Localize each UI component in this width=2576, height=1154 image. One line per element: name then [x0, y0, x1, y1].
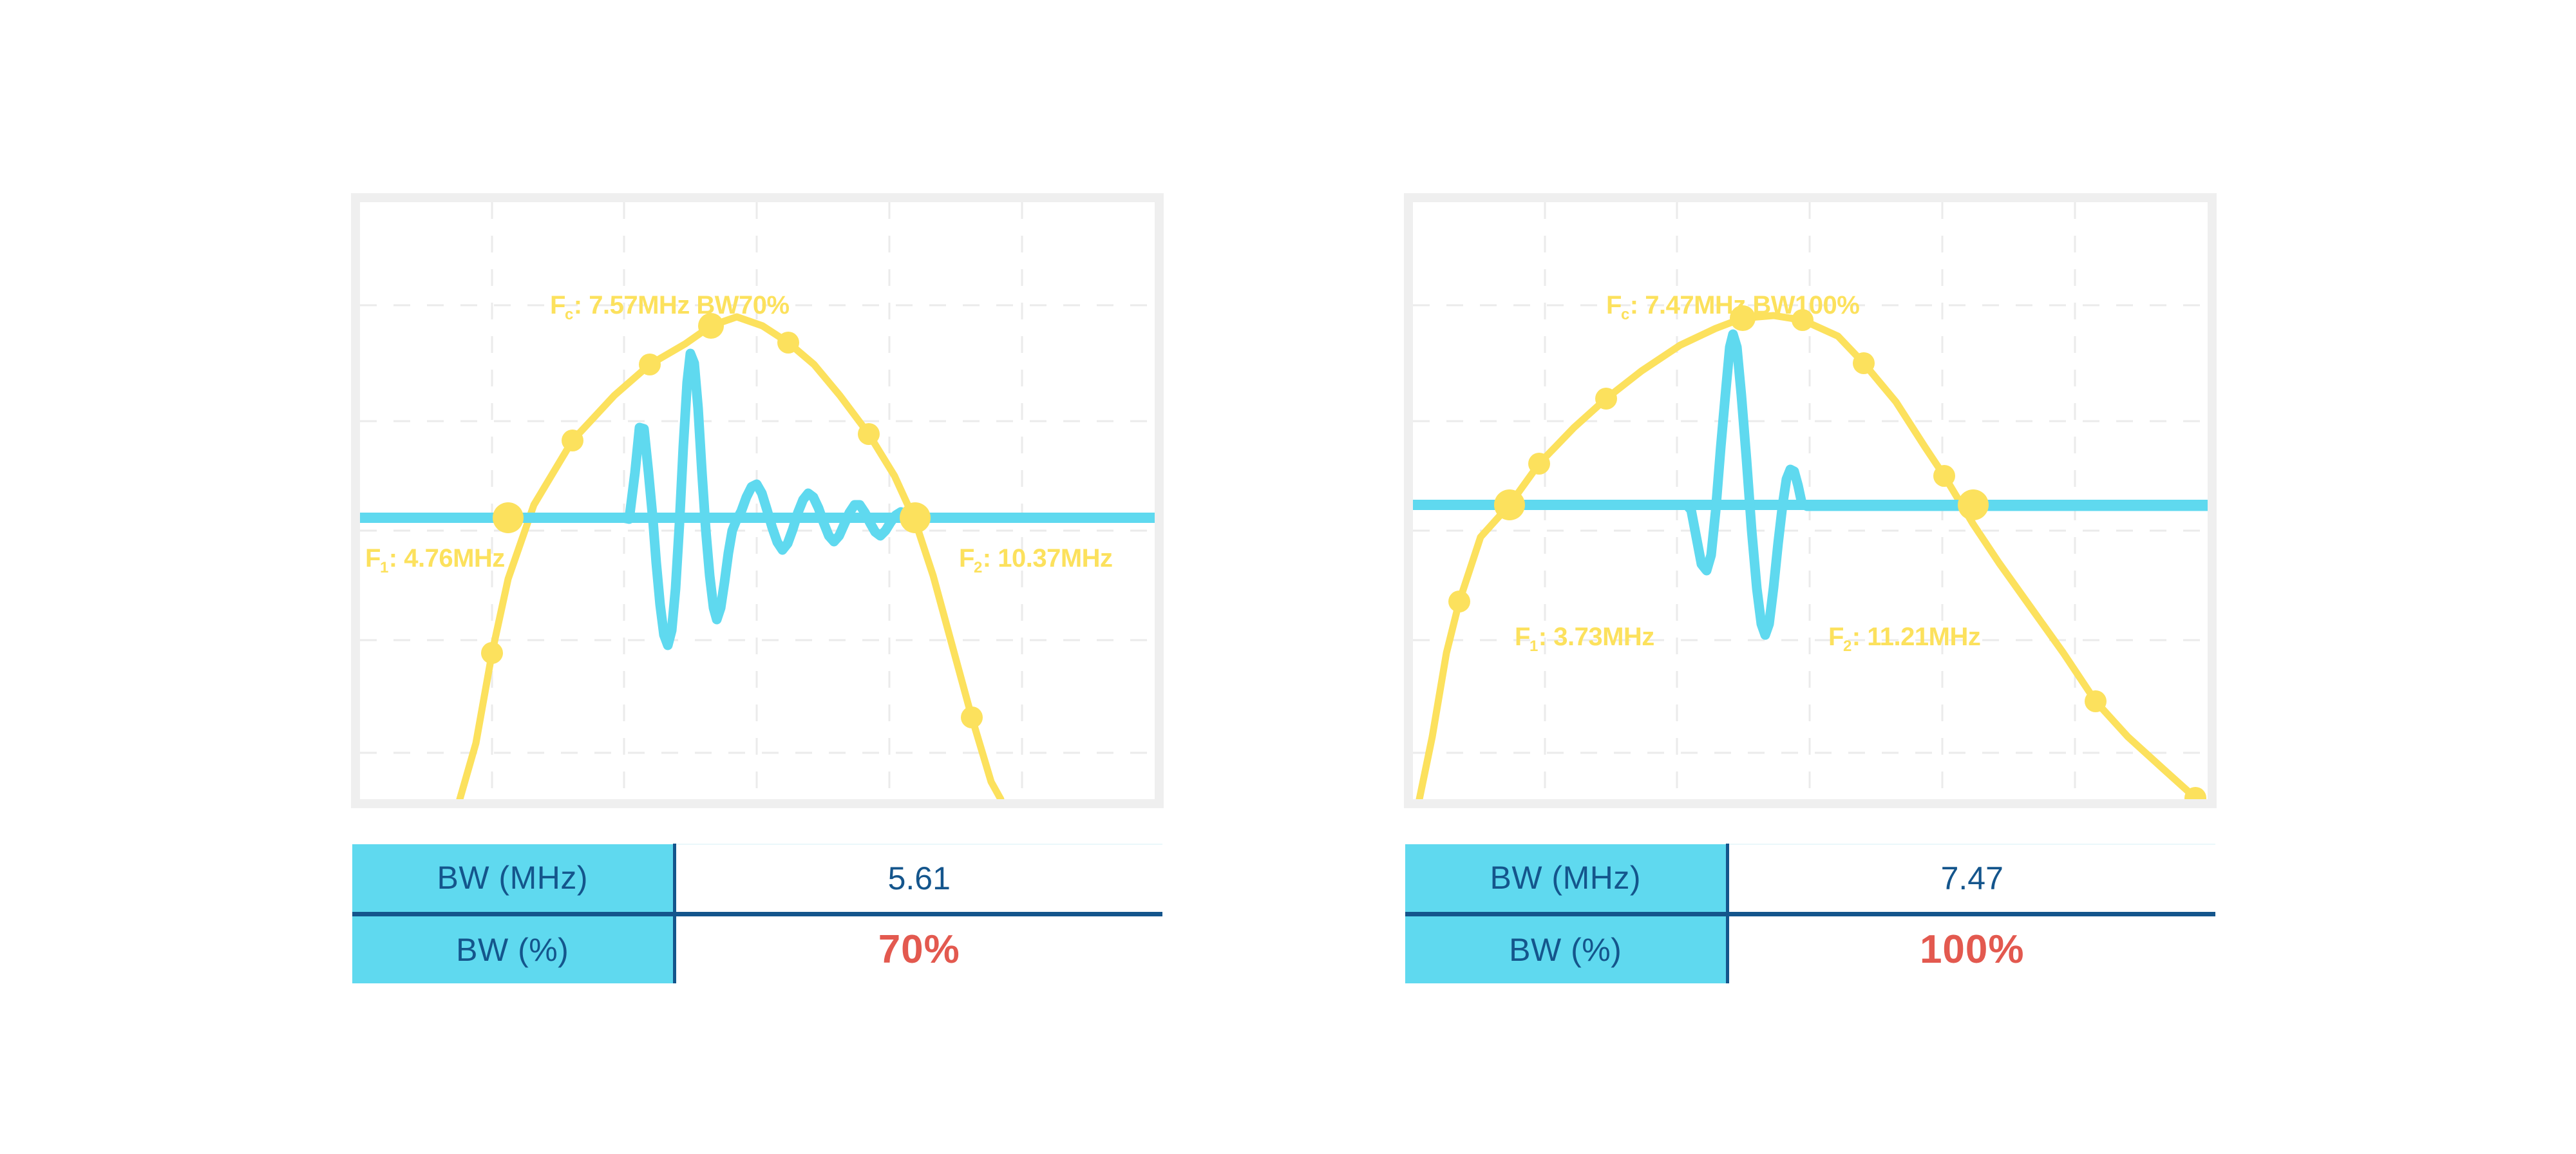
table-row: BW (MHz) 5.61 — [352, 844, 1162, 914]
bw-mhz-label: BW (MHz) — [352, 844, 674, 914]
chart-frame-left: Fc: 7.57MHz BW70% F1: 4.76MHz F2: 10.37M… — [351, 193, 1164, 808]
bw-pct-value: 100% — [1727, 914, 2215, 983]
bw-mhz-value: 7.47 — [1727, 844, 2215, 914]
bw-pct-label: BW (%) — [1405, 914, 1727, 983]
panel-right: Fc: 7.47MHz BW100% F1: 3.73MHz F2: 11.21… — [1404, 193, 2217, 808]
bw-pct-value: 70% — [674, 914, 1162, 983]
table-row: BW (%) 100% — [1405, 914, 2215, 983]
spectrum-markers-right — [1448, 305, 2206, 799]
table-row: BW (%) 70% — [352, 914, 1162, 983]
bw-mhz-label: BW (MHz) — [1405, 844, 1727, 914]
chart-svg-right — [1413, 202, 2208, 799]
table-row: BW (MHz) 7.47 — [1405, 844, 2215, 914]
chart-frame-right: Fc: 7.47MHz BW100% F1: 3.73MHz F2: 11.21… — [1404, 193, 2217, 808]
bw-mhz-value: 5.61 — [674, 844, 1162, 914]
chart-plot-left — [360, 202, 1155, 799]
bw-pct-label: BW (%) — [352, 914, 674, 983]
chart-plot-right — [1413, 202, 2208, 799]
pulse-waveform-left — [360, 354, 1155, 645]
comparison-panels: Fc: 7.57MHz BW70% F1: 4.76MHz F2: 10.37M… — [0, 0, 2576, 1154]
panel-left: Fc: 7.57MHz BW70% F1: 4.76MHz F2: 10.37M… — [351, 193, 1164, 808]
bw-table-right: BW (MHz) 7.47 BW (%) 100% — [1405, 844, 2215, 983]
spectrum-curve-right — [1419, 316, 2195, 799]
chart-svg-left — [360, 202, 1155, 799]
bw-table-left: BW (MHz) 5.61 BW (%) 70% — [352, 844, 1162, 983]
